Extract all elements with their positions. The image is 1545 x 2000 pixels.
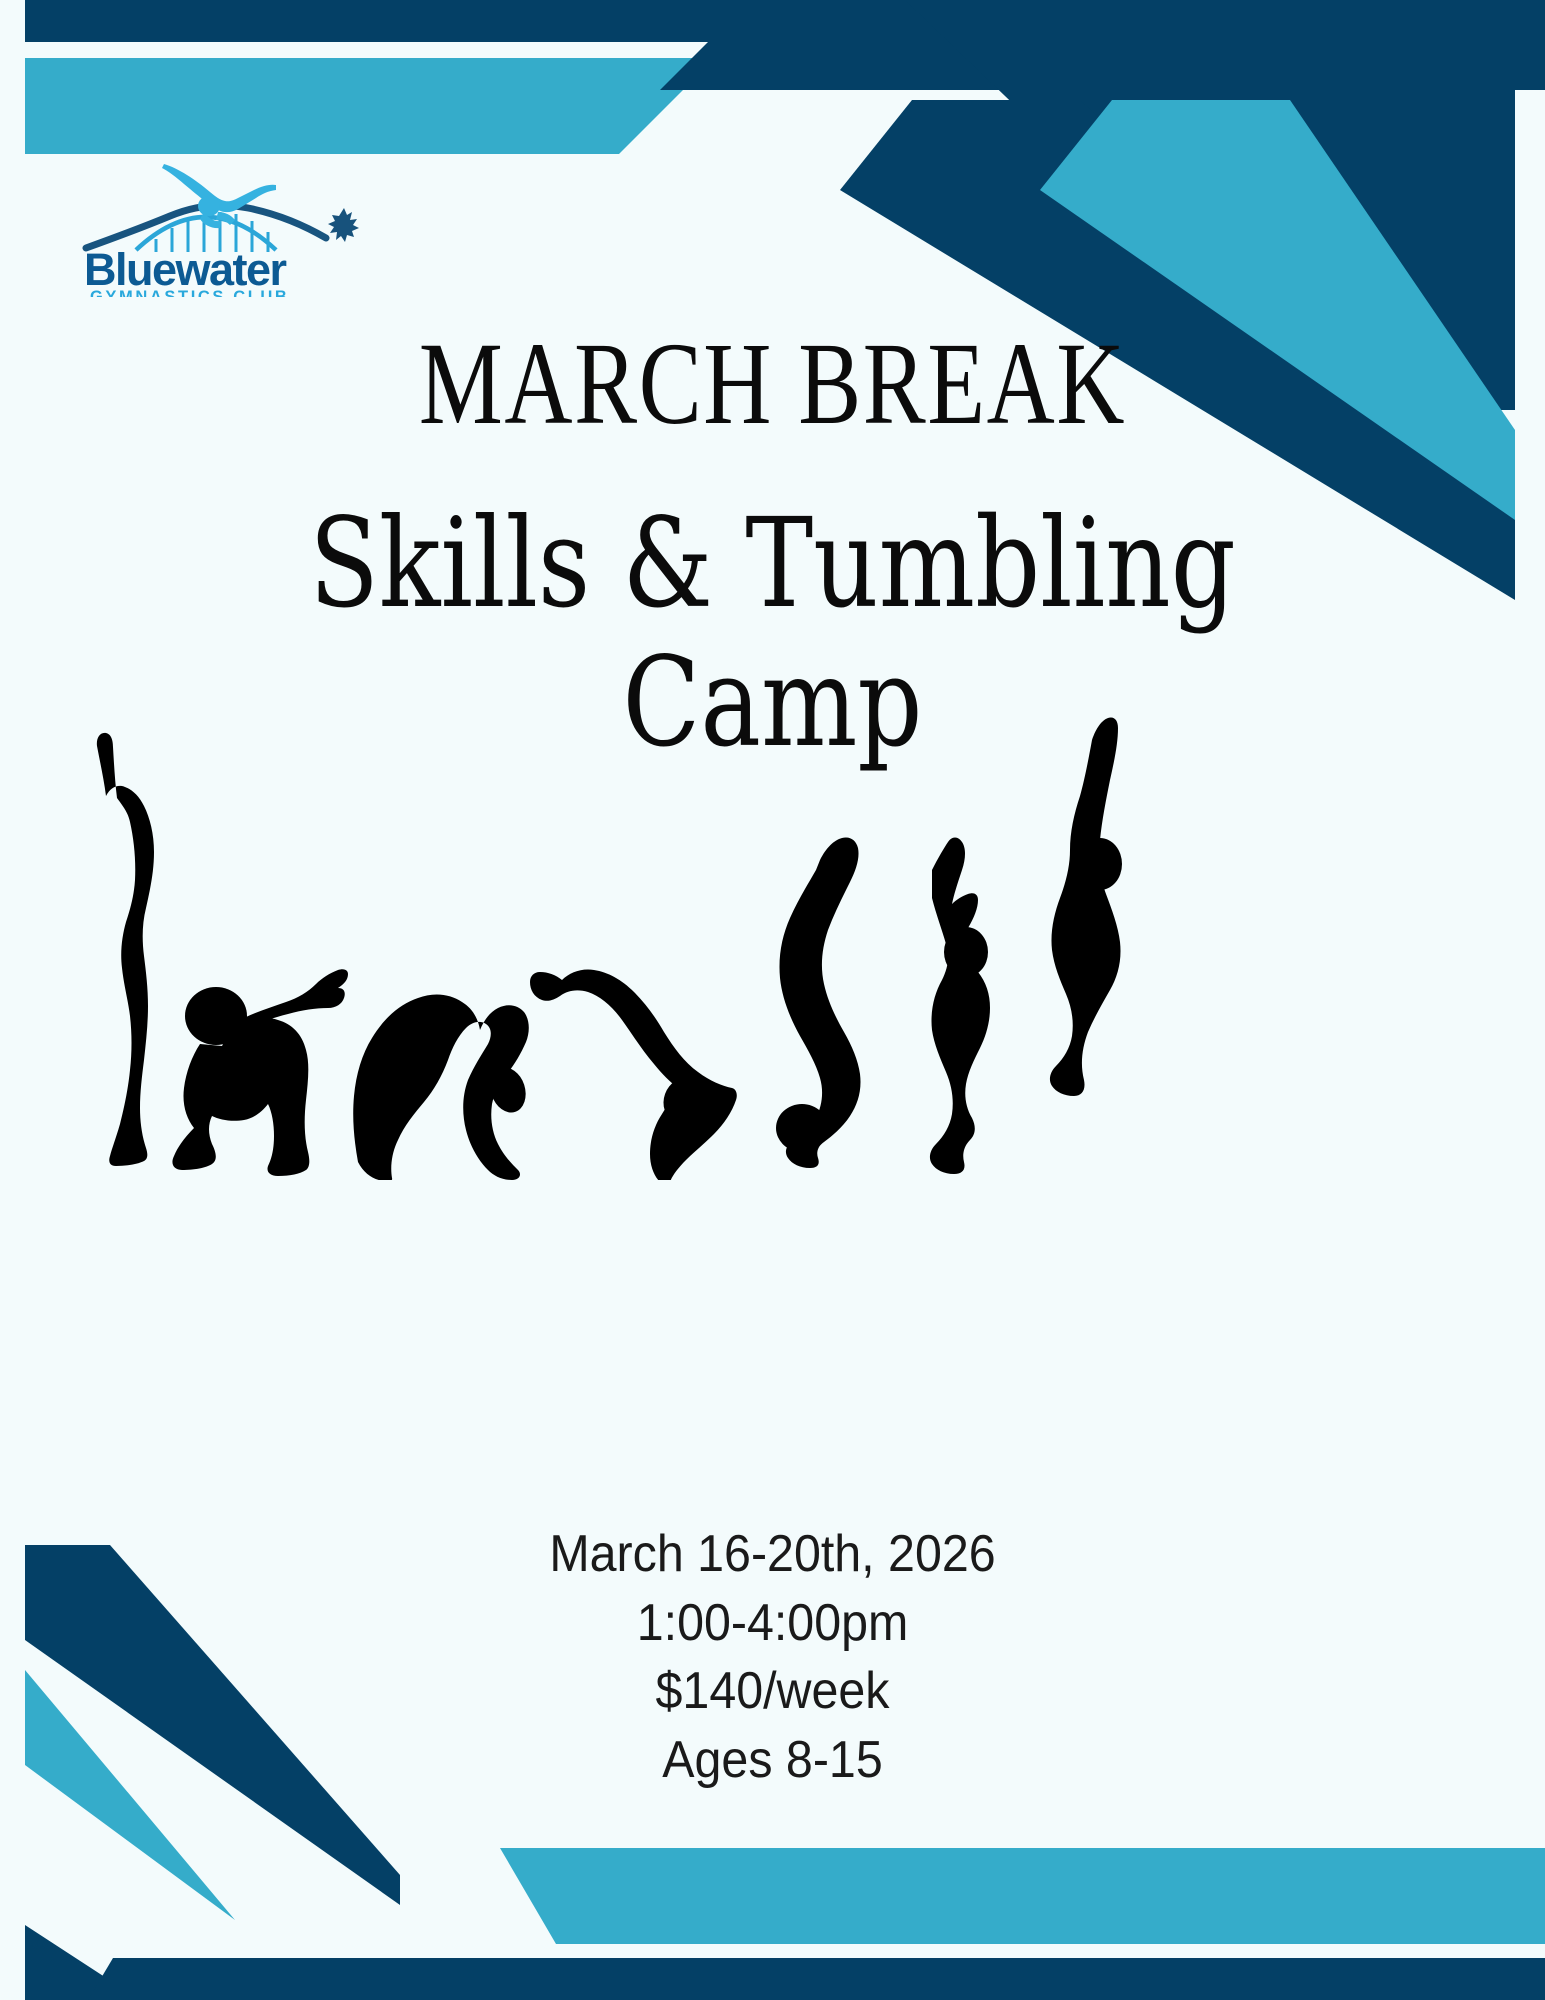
logo-subtitle: GYMNASTICS CLUB [90, 288, 289, 297]
silhouette-straight-stretch-jump [1050, 717, 1122, 1096]
gymnast-silhouettes-row [60, 700, 1170, 1180]
decor-top-left-navy-bar [25, 0, 760, 42]
silhouette-round-off-prep [930, 838, 990, 1175]
silhouette-handstand-bent [776, 837, 861, 1168]
silhouette-handstand-vertical [97, 733, 154, 1166]
info-dates: March 16-20th, 2026 [54, 1520, 1491, 1589]
silhouette-back-handspring-arch [530, 969, 737, 1180]
silhouette-tuck-jump-crouch [172, 969, 348, 1176]
decor-bottom-teal-band [500, 1848, 1545, 1944]
silhouette-back-bridge-walkover [353, 995, 531, 1180]
maple-leaf-icon [328, 208, 359, 242]
info-block: March 16-20th, 2026 1:00-4:00pm $140/wee… [0, 1520, 1545, 1795]
poster-canvas: Bluewater GYMNASTICS CLUB MARCH BREAK Sk… [0, 0, 1545, 2000]
info-ages: Ages 8-15 [54, 1726, 1491, 1795]
gymnast-figure-icon [162, 164, 276, 228]
info-time: 1:00-4:00pm [54, 1589, 1491, 1658]
headline-script-line-1: Skills & Tumbling [139, 495, 1406, 634]
decor-bottom-navy-band [88, 1958, 1545, 2000]
bluewater-gymnastics-logo: Bluewater GYMNASTICS CLUB [78, 142, 378, 297]
info-price: $140/week [54, 1657, 1491, 1726]
decor-top-left-teal-bar [25, 58, 715, 154]
